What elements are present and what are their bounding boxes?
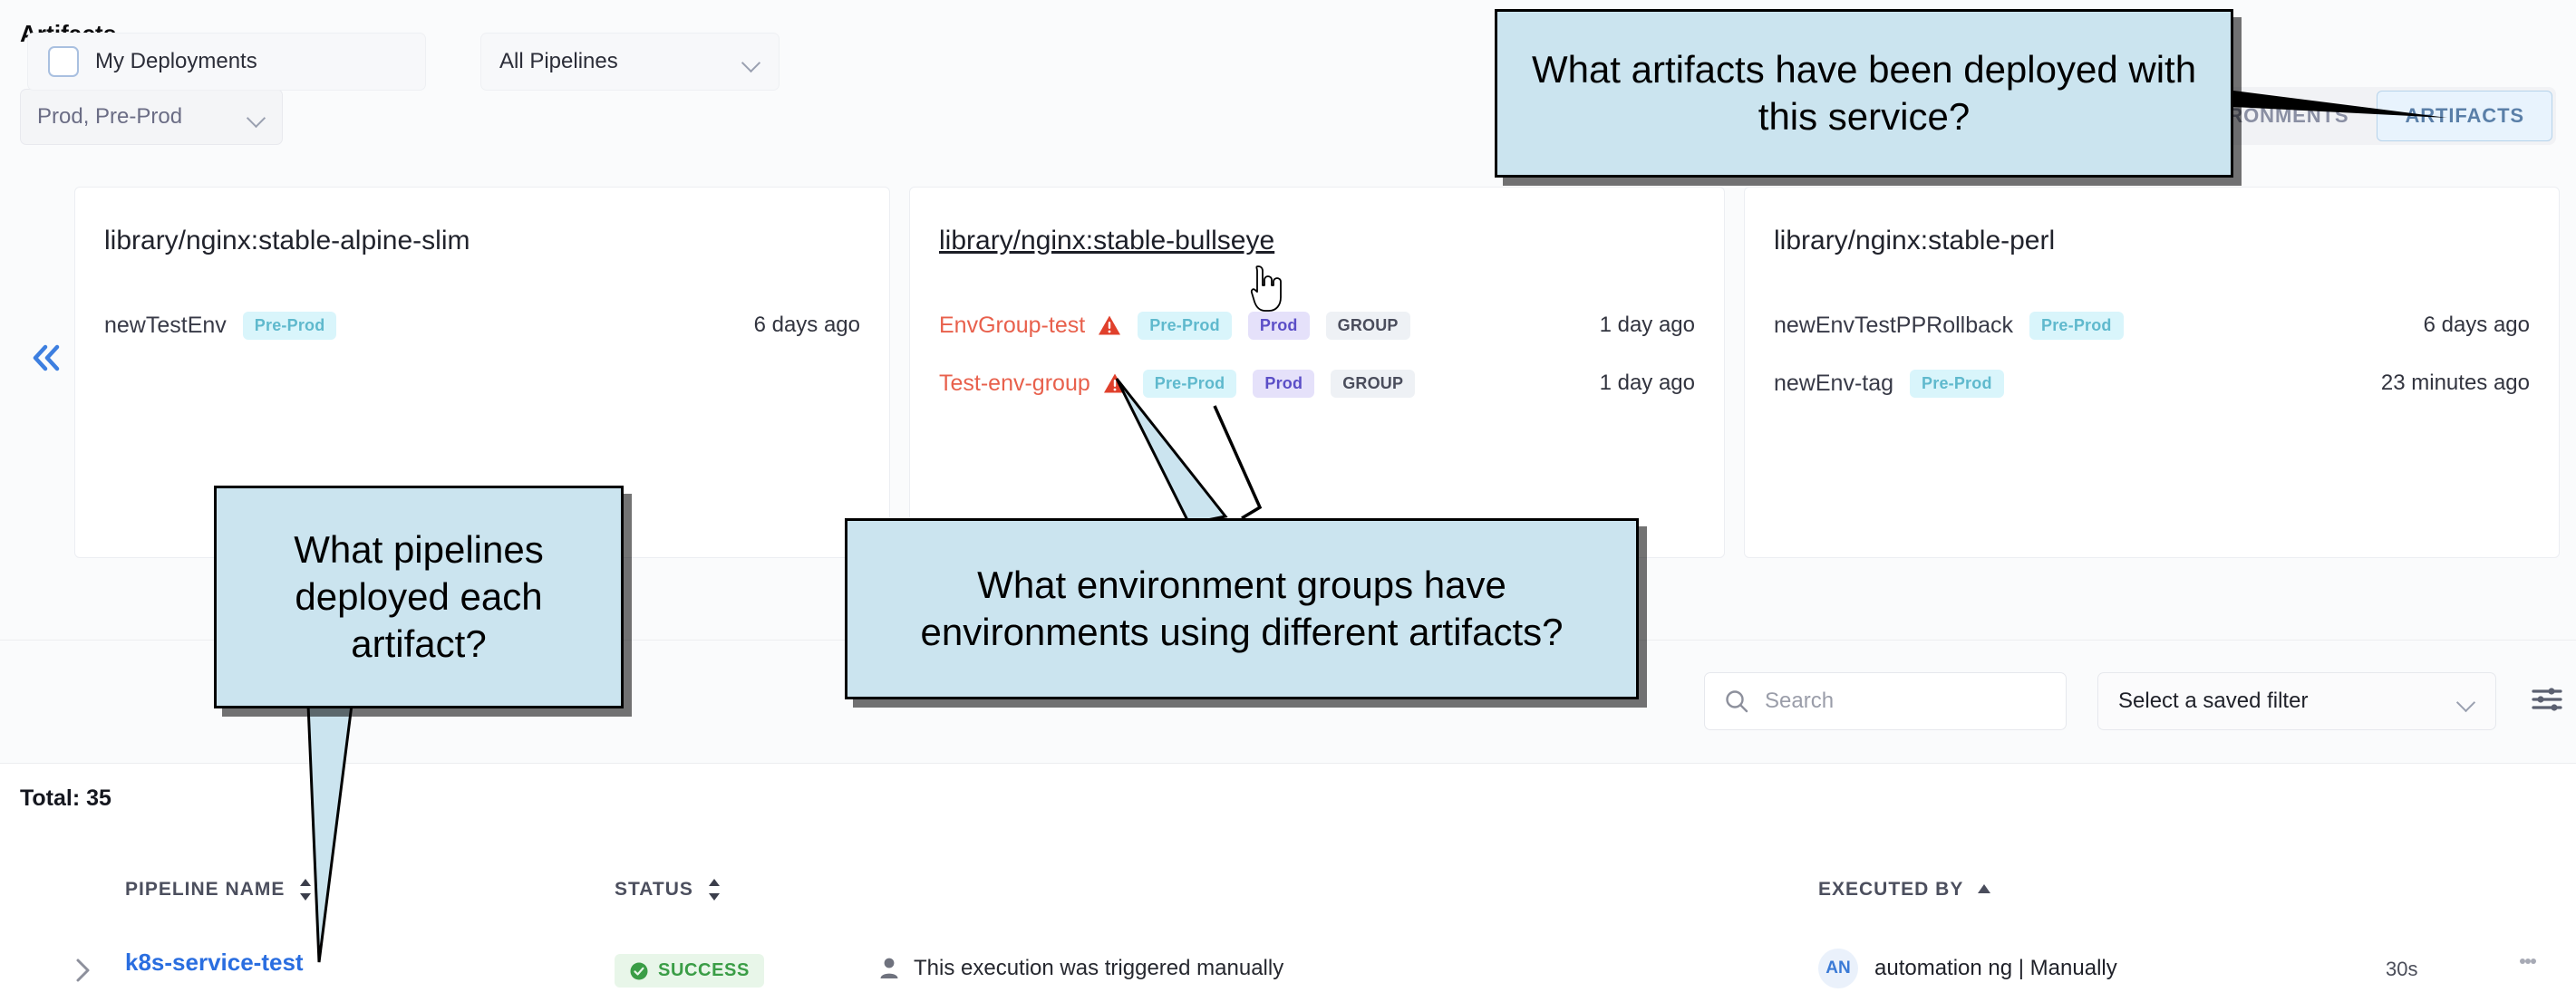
- my-deployments-checkbox[interactable]: [48, 46, 79, 77]
- env-type-pill: Pre-Prod: [1138, 312, 1232, 340]
- chevron-right-icon[interactable]: [71, 954, 94, 987]
- status-badge: SUCCESS: [615, 954, 764, 988]
- search-input[interactable]: Search: [1704, 672, 2067, 730]
- artifact-card: library/nginx:stable-bullseyeEnvGroup-te…: [909, 187, 1725, 558]
- pipeline-name-text: k8s-service-test: [125, 949, 304, 977]
- check-circle-icon: [629, 961, 649, 981]
- artifact-card: library/nginx:stable-perlnewEnvTestPPRol…: [1744, 187, 2560, 558]
- column-label: PIPELINE NAME: [125, 879, 285, 901]
- environment-row[interactable]: EnvGroup-testPre-ProdProdGROUP1 day ago: [939, 296, 1699, 354]
- saved-filter-value: Select a saved filter: [2118, 689, 2457, 714]
- sort-asc-icon: [1976, 876, 1992, 903]
- my-deployments-filter[interactable]: My Deployments: [27, 33, 426, 91]
- sort-both-icon: [297, 876, 314, 903]
- env-type-pill: Pre-Prod: [243, 312, 337, 340]
- environment-row-list: EnvGroup-testPre-ProdProdGROUP1 day agoT…: [939, 296, 1699, 412]
- trigger-info: This execution was triggered manually: [877, 956, 1283, 981]
- env-type-pill: Pre-Prod: [2029, 312, 2124, 340]
- pipeline-scope-dropdown[interactable]: All Pipelines: [480, 33, 780, 91]
- app-root: Artifacts Prod, Pre-Prod ENVIRONMENTS AR…: [0, 0, 2576, 1002]
- column-header-executed-by[interactable]: EXECUTED BY: [1818, 876, 1992, 903]
- deployment-time: 6 days ago: [2424, 313, 2533, 338]
- avatar: AN: [1818, 949, 1858, 988]
- artifact-name: library/nginx:stable-perl: [1774, 226, 2055, 256]
- warning-icon: [1098, 314, 1121, 336]
- chevron-down-icon: [2457, 692, 2475, 710]
- environment-row-list: newTestEnvPre-Prod6 days ago: [104, 296, 864, 354]
- search-icon: [1723, 688, 1750, 715]
- chevron-down-icon: [742, 53, 760, 71]
- environment-row[interactable]: Test-env-groupPre-ProdProdGROUP1 day ago: [939, 354, 1699, 412]
- trigger-text: This execution was triggered manually: [914, 956, 1283, 981]
- environment-row[interactable]: newTestEnvPre-Prod6 days ago: [104, 296, 864, 354]
- artifact-name: library/nginx:stable-alpine-slim: [104, 226, 470, 256]
- callout-artifacts: What artifacts have been deployed with t…: [1495, 9, 2233, 178]
- chevron-down-icon: [247, 108, 266, 126]
- environment-row[interactable]: newEnvTestPPRollbackPre-Prod6 days ago: [1774, 296, 2533, 354]
- warning-icon: [1103, 372, 1127, 394]
- kebab-menu-icon[interactable]: [2520, 954, 2536, 968]
- executions-table: Total: 35 PIPELINE NAME STATUS EXECUTED …: [0, 763, 2576, 1002]
- callout-env-groups: What environment groups have environment…: [845, 518, 1639, 699]
- environment-filter-value: Prod, Pre-Prod: [37, 104, 247, 130]
- table-row[interactable]: k8s-service-test SUCCESS This execution …: [0, 941, 2576, 1002]
- total-count: Total: 35: [20, 785, 111, 812]
- pipeline-name-link[interactable]: k8s-service-test: [125, 949, 304, 977]
- my-deployments-label: My Deployments: [95, 49, 257, 74]
- column-label: STATUS: [615, 879, 693, 901]
- callout-pipelines: What pipelines deployed each artifact?: [214, 486, 624, 708]
- environment-name: newTestEnv: [104, 313, 227, 339]
- artifact-name-link[interactable]: library/nginx:stable-bullseye: [939, 226, 1274, 256]
- callout-artifacts-text: What artifacts have been deployed with t…: [1497, 41, 2231, 146]
- duration-text: 30s: [2386, 958, 2417, 981]
- mouse-cursor-pointer: [1249, 265, 1287, 313]
- deployment-time: 1 day ago: [1600, 313, 1699, 338]
- environment-name: newEnv-tag: [1774, 371, 1893, 397]
- environment-name: Test-env-group: [939, 371, 1090, 397]
- env-type-pill: GROUP: [1331, 370, 1415, 398]
- pipeline-scope-value: All Pipelines: [499, 49, 742, 74]
- environment-row-list: newEnvTestPPRollbackPre-Prod6 days agone…: [1774, 296, 2533, 412]
- search-placeholder: Search: [1765, 689, 1834, 714]
- column-label: EXECUTED BY: [1818, 879, 1963, 901]
- env-type-pill: Prod: [1253, 370, 1314, 398]
- sliders-icon[interactable]: [2527, 679, 2567, 719]
- table-header-row: PIPELINE NAME STATUS EXECUTED BY: [0, 876, 2576, 936]
- env-type-pill: Pre-Prod: [1143, 370, 1237, 398]
- executed-by-text: automation ng | Manually: [1874, 956, 2117, 981]
- callout-env-groups-text: What environment groups have environment…: [847, 556, 1636, 661]
- column-header-pipeline-name[interactable]: PIPELINE NAME: [125, 876, 314, 903]
- deployment-time: 23 minutes ago: [2381, 371, 2533, 396]
- env-type-pill: Pre-Prod: [1910, 370, 2004, 398]
- environment-filter-dropdown[interactable]: Prod, Pre-Prod: [20, 89, 283, 145]
- saved-filter-dropdown[interactable]: Select a saved filter: [2097, 672, 2496, 730]
- column-header-status[interactable]: STATUS: [615, 876, 722, 903]
- status-text: SUCCESS: [658, 960, 750, 981]
- executed-by-cell: AN automation ng | Manually: [1818, 949, 2117, 988]
- env-type-pill: GROUP: [1326, 312, 1410, 340]
- callout-pipelines-text: What pipelines deployed each artifact?: [217, 521, 621, 673]
- env-type-pill: Prod: [1248, 312, 1310, 340]
- environment-name: newEnvTestPPRollback: [1774, 313, 2013, 339]
- deployment-time: 1 day ago: [1600, 371, 1699, 396]
- environment-name: EnvGroup-test: [939, 313, 1085, 339]
- environment-row[interactable]: newEnv-tagPre-Prod23 minutes ago: [1774, 354, 2533, 412]
- sort-both-icon: [706, 876, 722, 903]
- deployment-time: 6 days ago: [754, 313, 864, 338]
- tab-artifacts[interactable]: ARTIFACTS: [2377, 91, 2552, 141]
- user-icon: [877, 956, 901, 981]
